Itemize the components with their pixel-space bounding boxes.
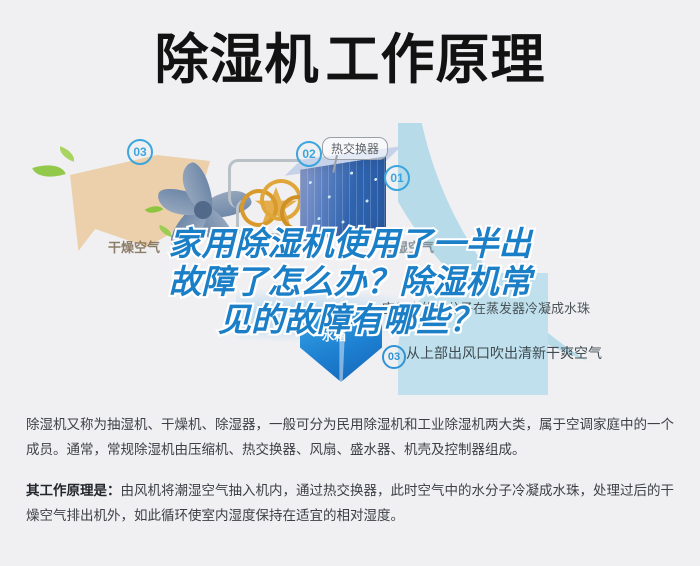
- moist-air-label: 潮湿空气: [382, 237, 434, 256]
- title-part-2: 工作原理: [326, 30, 546, 90]
- water-tank-label: 水箱: [322, 327, 346, 344]
- page-title: 除湿机工作原理: [0, 20, 700, 100]
- outlet-caption: 从上部出风口吹出清新干爽空气: [406, 343, 602, 363]
- fan-hub: [194, 201, 212, 219]
- badge-01-moist-air: 01: [384, 165, 410, 191]
- article-paragraph-2-lead: 其工作原理是：: [26, 483, 121, 498]
- evaporator-caption: 空气中的水分子在蒸发器冷凝成水珠: [382, 298, 590, 317]
- article-paragraph-2: 其工作原理是：由风机将潮湿空气抽入机内，通过热交换器，此时空气中的水分子冷凝成水…: [26, 478, 674, 528]
- page-root: 除湿机工作原理 干燥空气: [0, 0, 700, 566]
- badge-03-dry-air: 03: [127, 139, 153, 165]
- article-paragraph-1: 除湿机又称为抽湿机、干燥机、除湿器，一般可分为民用除湿机和工业除湿机两大类，属于…: [26, 412, 674, 462]
- heat-exchanger-callout: 热交换器: [322, 137, 388, 160]
- condensation-droplets: [300, 156, 386, 242]
- badge-02-heat-exchanger: 02: [296, 141, 322, 167]
- title-part-1: 除湿机: [155, 30, 320, 90]
- badge-03-outlet: 03: [382, 345, 406, 369]
- leaf-icon: [57, 146, 77, 162]
- leaf-icon: [32, 159, 65, 183]
- title-text: 除湿机工作原理: [155, 33, 546, 87]
- article-paragraph-2-rest: 由风机将潮湿空气抽入机内，通过热交换器，此时空气中的水分子冷凝成水珠，处理过后的…: [26, 483, 674, 523]
- dehumidifier-diagram: 干燥空气 热交换器: [0, 115, 700, 395]
- article-body: 除湿机又称为抽湿机、干燥机、除湿器，一般可分为民用除湿机和工业除湿机两大类，属于…: [0, 412, 700, 544]
